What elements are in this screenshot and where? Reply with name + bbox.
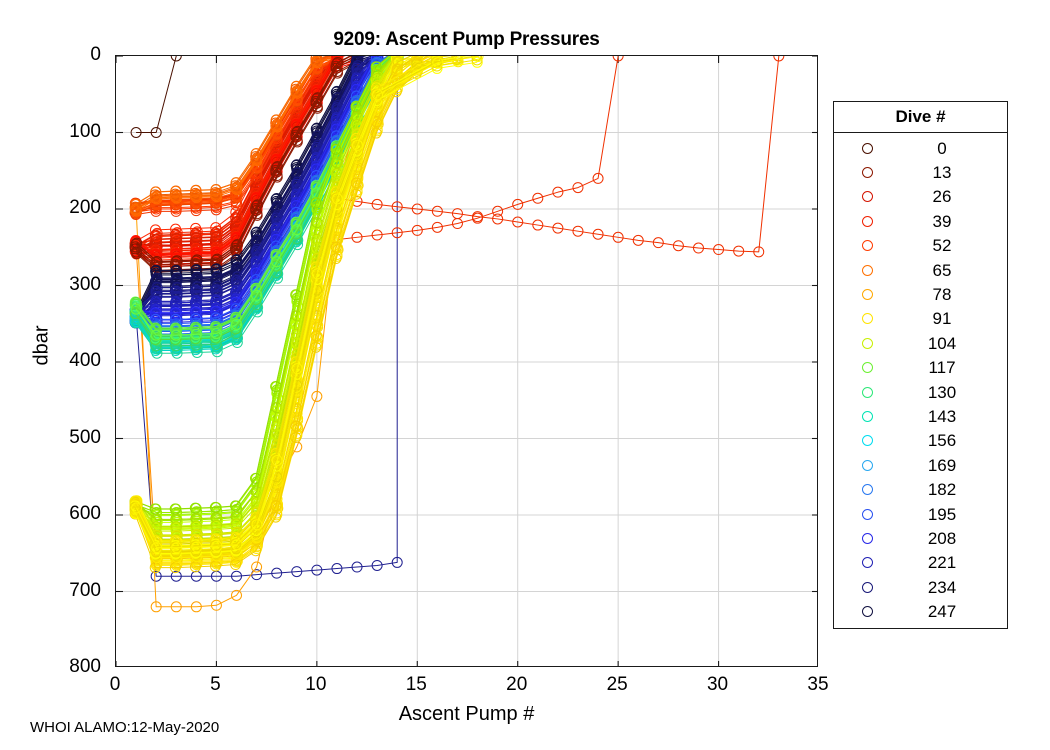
circle-marker-icon xyxy=(862,411,873,422)
legend-item[interactable]: 156 xyxy=(834,429,1007,453)
legend-title: Dive # xyxy=(834,102,1007,133)
y-tick-label: 400 xyxy=(0,350,101,372)
legend-item[interactable]: 117 xyxy=(834,356,1007,380)
circle-marker-icon xyxy=(862,557,873,568)
y-tick-label: 300 xyxy=(0,274,101,296)
legend-item-label: 0 xyxy=(900,140,984,157)
circle-marker-icon xyxy=(862,435,873,446)
circle-marker-icon xyxy=(862,143,873,154)
x-tick-label: 35 xyxy=(788,674,848,696)
legend-item[interactable]: 234 xyxy=(834,575,1007,599)
legend-item-label: 130 xyxy=(900,384,984,401)
circle-marker-icon xyxy=(862,167,873,178)
legend-item[interactable]: 143 xyxy=(834,404,1007,428)
x-tick-label: 10 xyxy=(286,674,346,696)
y-tick-label: 200 xyxy=(0,197,101,219)
legend-marker-cell xyxy=(834,411,900,422)
circle-marker-icon xyxy=(862,460,873,471)
legend-item-label: 104 xyxy=(900,335,984,352)
legend-item-label: 143 xyxy=(900,408,984,425)
legend-marker-cell xyxy=(834,484,900,495)
legend-item[interactable]: 0 xyxy=(834,136,1007,160)
legend-item[interactable]: 247 xyxy=(834,599,1007,623)
legend-item-label: 208 xyxy=(900,530,984,547)
y-tick-label: 600 xyxy=(0,503,101,525)
legend-marker-cell xyxy=(834,582,900,593)
y-axis-ticks: 0100200300400500600700800 xyxy=(0,0,107,750)
footer-note: WHOI ALAMO:12-May-2020 xyxy=(30,719,219,736)
legend-item-label: 26 xyxy=(900,188,984,205)
x-tick-label: 20 xyxy=(487,674,547,696)
legend-marker-cell xyxy=(834,167,900,178)
legend-items: 0132639526578911041171301431561691821952… xyxy=(834,133,1007,628)
x-tick-label: 0 xyxy=(85,674,145,696)
circle-marker-icon xyxy=(862,313,873,324)
data-series xyxy=(131,56,181,138)
legend-item-label: 156 xyxy=(900,432,984,449)
legend-item-label: 13 xyxy=(900,164,984,181)
y-tick-label: 500 xyxy=(0,427,101,449)
legend-item[interactable]: 13 xyxy=(834,160,1007,184)
circle-marker-icon xyxy=(862,216,873,227)
legend-item[interactable]: 26 xyxy=(834,185,1007,209)
y-tick-label: 700 xyxy=(0,580,101,602)
plot-area xyxy=(115,55,818,667)
legend-item[interactable]: 39 xyxy=(834,209,1007,233)
x-tick-label: 5 xyxy=(185,674,245,696)
y-tick-label: 100 xyxy=(0,121,101,143)
legend-item-label: 234 xyxy=(900,579,984,596)
circle-marker-icon xyxy=(862,362,873,373)
legend-item-label: 39 xyxy=(900,213,984,230)
circle-marker-icon xyxy=(862,387,873,398)
legend-marker-cell xyxy=(834,338,900,349)
x-axis-ticks: 05101520253035 xyxy=(0,674,1050,704)
legend-item[interactable]: 221 xyxy=(834,551,1007,575)
legend-marker-cell xyxy=(834,362,900,373)
x-axis-label: Ascent Pump # xyxy=(115,703,818,726)
legend-item-label: 52 xyxy=(900,237,984,254)
legend-marker-cell xyxy=(834,606,900,617)
legend-item-label: 182 xyxy=(900,481,984,498)
legend-item[interactable]: 130 xyxy=(834,380,1007,404)
legend-marker-cell xyxy=(834,509,900,520)
circle-marker-icon xyxy=(862,509,873,520)
legend-item[interactable]: 65 xyxy=(834,258,1007,282)
circle-marker-icon xyxy=(862,484,873,495)
x-tick-label: 25 xyxy=(587,674,647,696)
legend-item-label: 91 xyxy=(900,310,984,327)
legend-marker-cell xyxy=(834,533,900,544)
legend-marker-cell xyxy=(834,265,900,276)
x-tick-label: 15 xyxy=(386,674,446,696)
legend: Dive # 013263952657891104117130143156169… xyxy=(833,101,1008,629)
circle-marker-icon xyxy=(862,338,873,349)
y-tick-label: 0 xyxy=(0,44,101,66)
legend-marker-cell xyxy=(834,191,900,202)
x-tick-label: 30 xyxy=(688,674,748,696)
legend-item-label: 65 xyxy=(900,262,984,279)
legend-marker-cell xyxy=(834,387,900,398)
legend-marker-cell xyxy=(834,313,900,324)
circle-marker-icon xyxy=(862,289,873,300)
legend-marker-cell xyxy=(834,460,900,471)
legend-item-label: 221 xyxy=(900,554,984,571)
legend-item[interactable]: 104 xyxy=(834,331,1007,355)
circle-marker-icon xyxy=(862,582,873,593)
legend-item[interactable]: 208 xyxy=(834,526,1007,550)
circle-marker-icon xyxy=(862,240,873,251)
legend-item-label: 169 xyxy=(900,457,984,474)
legend-marker-cell xyxy=(834,289,900,300)
plot-canvas xyxy=(116,56,818,667)
legend-marker-cell xyxy=(834,143,900,154)
figure-root: 9209: Ascent Pump Pressures dbar 0100200… xyxy=(0,0,1050,750)
circle-marker-icon xyxy=(862,533,873,544)
legend-marker-cell xyxy=(834,435,900,446)
page-title: 9209: Ascent Pump Pressures xyxy=(115,29,818,51)
legend-marker-cell xyxy=(834,557,900,568)
legend-item[interactable]: 52 xyxy=(834,234,1007,258)
legend-item-label: 195 xyxy=(900,506,984,523)
legend-marker-cell xyxy=(834,240,900,251)
circle-marker-icon xyxy=(862,191,873,202)
legend-item-label: 78 xyxy=(900,286,984,303)
circle-marker-icon xyxy=(862,606,873,617)
circle-marker-icon xyxy=(862,265,873,276)
legend-item-label: 247 xyxy=(900,603,984,620)
legend-item-label: 117 xyxy=(900,359,984,376)
legend-marker-cell xyxy=(834,216,900,227)
legend-item[interactable]: 182 xyxy=(834,477,1007,501)
legend-item[interactable]: 169 xyxy=(834,453,1007,477)
legend-item[interactable]: 91 xyxy=(834,307,1007,331)
legend-item[interactable]: 195 xyxy=(834,502,1007,526)
legend-item[interactable]: 78 xyxy=(834,282,1007,306)
